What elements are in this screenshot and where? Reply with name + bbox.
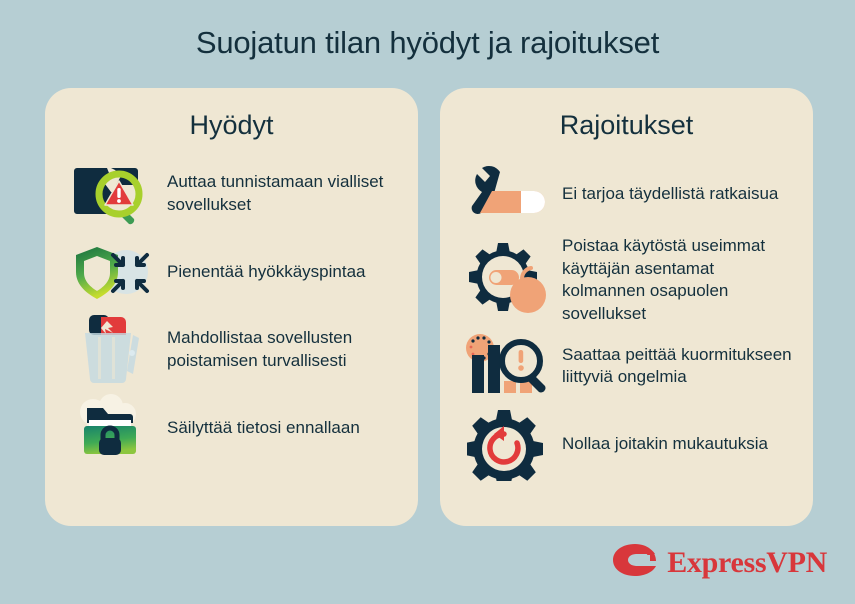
limitations-heading: Rajoitukset	[440, 110, 813, 141]
gear-toggle-off-icon	[462, 243, 556, 317]
limitations-list: Ei tarjoa täydellistä ratkaisua	[440, 157, 813, 481]
bar-chart-magnifier-alert-icon	[462, 329, 556, 403]
benefits-heading: Hyödyt	[45, 110, 418, 141]
benefits-card: Hyödyt Auttaa tunnistamaan viallise	[45, 88, 418, 526]
list-item: Mahdollistaa sovellusten poistamisen tur…	[45, 313, 418, 387]
list-item-label: Pienentää hyökkäyspintaa	[161, 261, 365, 284]
list-item-label: Poistaa käytöstä useimmat käyttäjän asen…	[556, 235, 799, 325]
expressvpn-wordmark: ExpressVPN	[667, 546, 827, 580]
list-item-label: Nollaa joitakin mukautuksia	[556, 433, 768, 456]
wrench-partial-bar-icon	[462, 157, 556, 231]
broken-phone-magnifier-icon	[67, 157, 161, 231]
trash-apps-icon	[67, 313, 161, 387]
list-item-label: Auttaa tunnistamaan vialliset sovellukse…	[161, 171, 404, 216]
list-item-label: Saattaa peittää kuormitukseen liittyviä …	[556, 344, 799, 389]
page-title: Suojatun tilan hyödyt ja rajoitukset	[0, 25, 855, 61]
list-item: Nollaa joitakin mukautuksia	[440, 407, 813, 481]
benefits-list: Auttaa tunnistamaan vialliset sovellukse…	[45, 157, 418, 465]
list-item: Pienentää hyökkäyspintaa	[45, 235, 418, 309]
limitations-card: Rajoitukset Ei tarjoa täydellistä ratkai…	[440, 88, 813, 526]
locked-folder-cloud-icon	[67, 391, 161, 465]
list-item: Ei tarjoa täydellistä ratkaisua	[440, 157, 813, 231]
list-item: Saattaa peittää kuormitukseen liittyviä …	[440, 329, 813, 403]
list-item: Säilyttää tietosi ennallaan	[45, 391, 418, 465]
expressvpn-e-mark-icon	[612, 543, 658, 582]
list-item-label: Säilyttää tietosi ennallaan	[161, 417, 360, 440]
gear-reset-icon	[462, 407, 556, 481]
shield-shrink-arrows-icon	[67, 235, 161, 309]
list-item: Auttaa tunnistamaan vialliset sovellukse…	[45, 157, 418, 231]
infographic-root: Suojatun tilan hyödyt ja rajoitukset Hyö…	[0, 0, 855, 604]
list-item: Poistaa käytöstä useimmat käyttäjän asen…	[440, 235, 813, 325]
expressvpn-logo: ExpressVPN	[612, 543, 827, 582]
list-item-label: Ei tarjoa täydellistä ratkaisua	[556, 183, 778, 206]
list-item-label: Mahdollistaa sovellusten poistamisen tur…	[161, 327, 404, 372]
